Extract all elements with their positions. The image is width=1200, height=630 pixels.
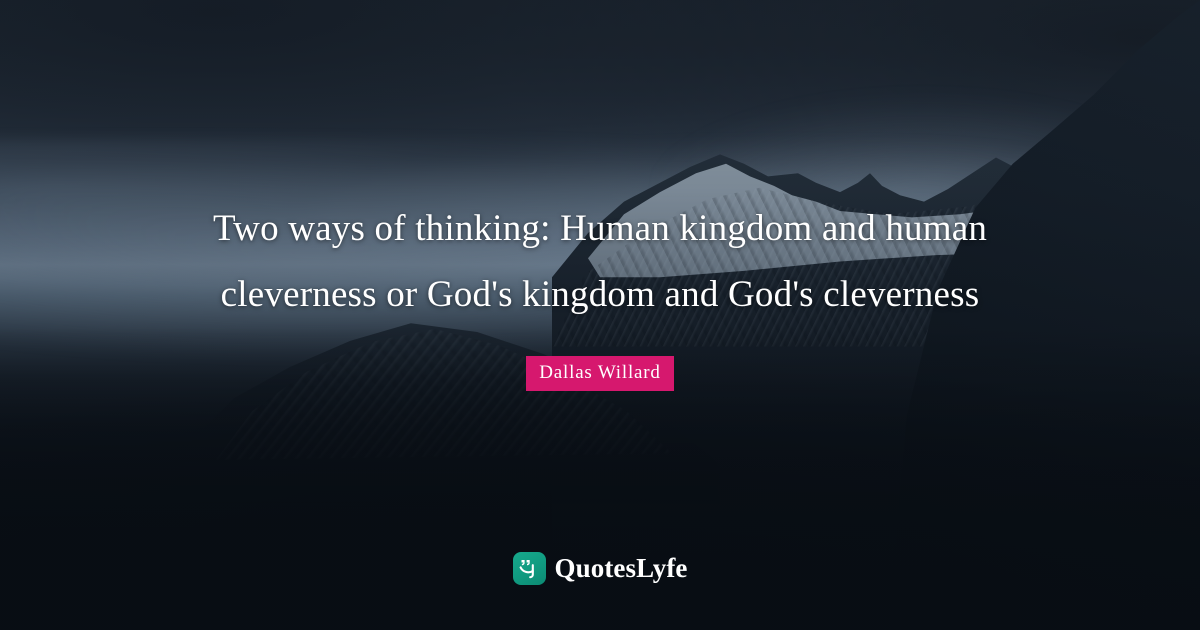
quote-smiley-icon (513, 552, 546, 585)
brand-logo[interactable]: QuotesLyfe (0, 552, 1200, 585)
author-badge[interactable]: Dallas Willard (526, 356, 673, 391)
brand-name: QuotesLyfe (555, 555, 688, 582)
quote-text: Two ways of thinking: Human kingdom and … (140, 196, 1060, 328)
quote-card: Two ways of thinking: Human kingdom and … (0, 0, 1200, 630)
card-content: Two ways of thinking: Human kingdom and … (0, 0, 1200, 630)
